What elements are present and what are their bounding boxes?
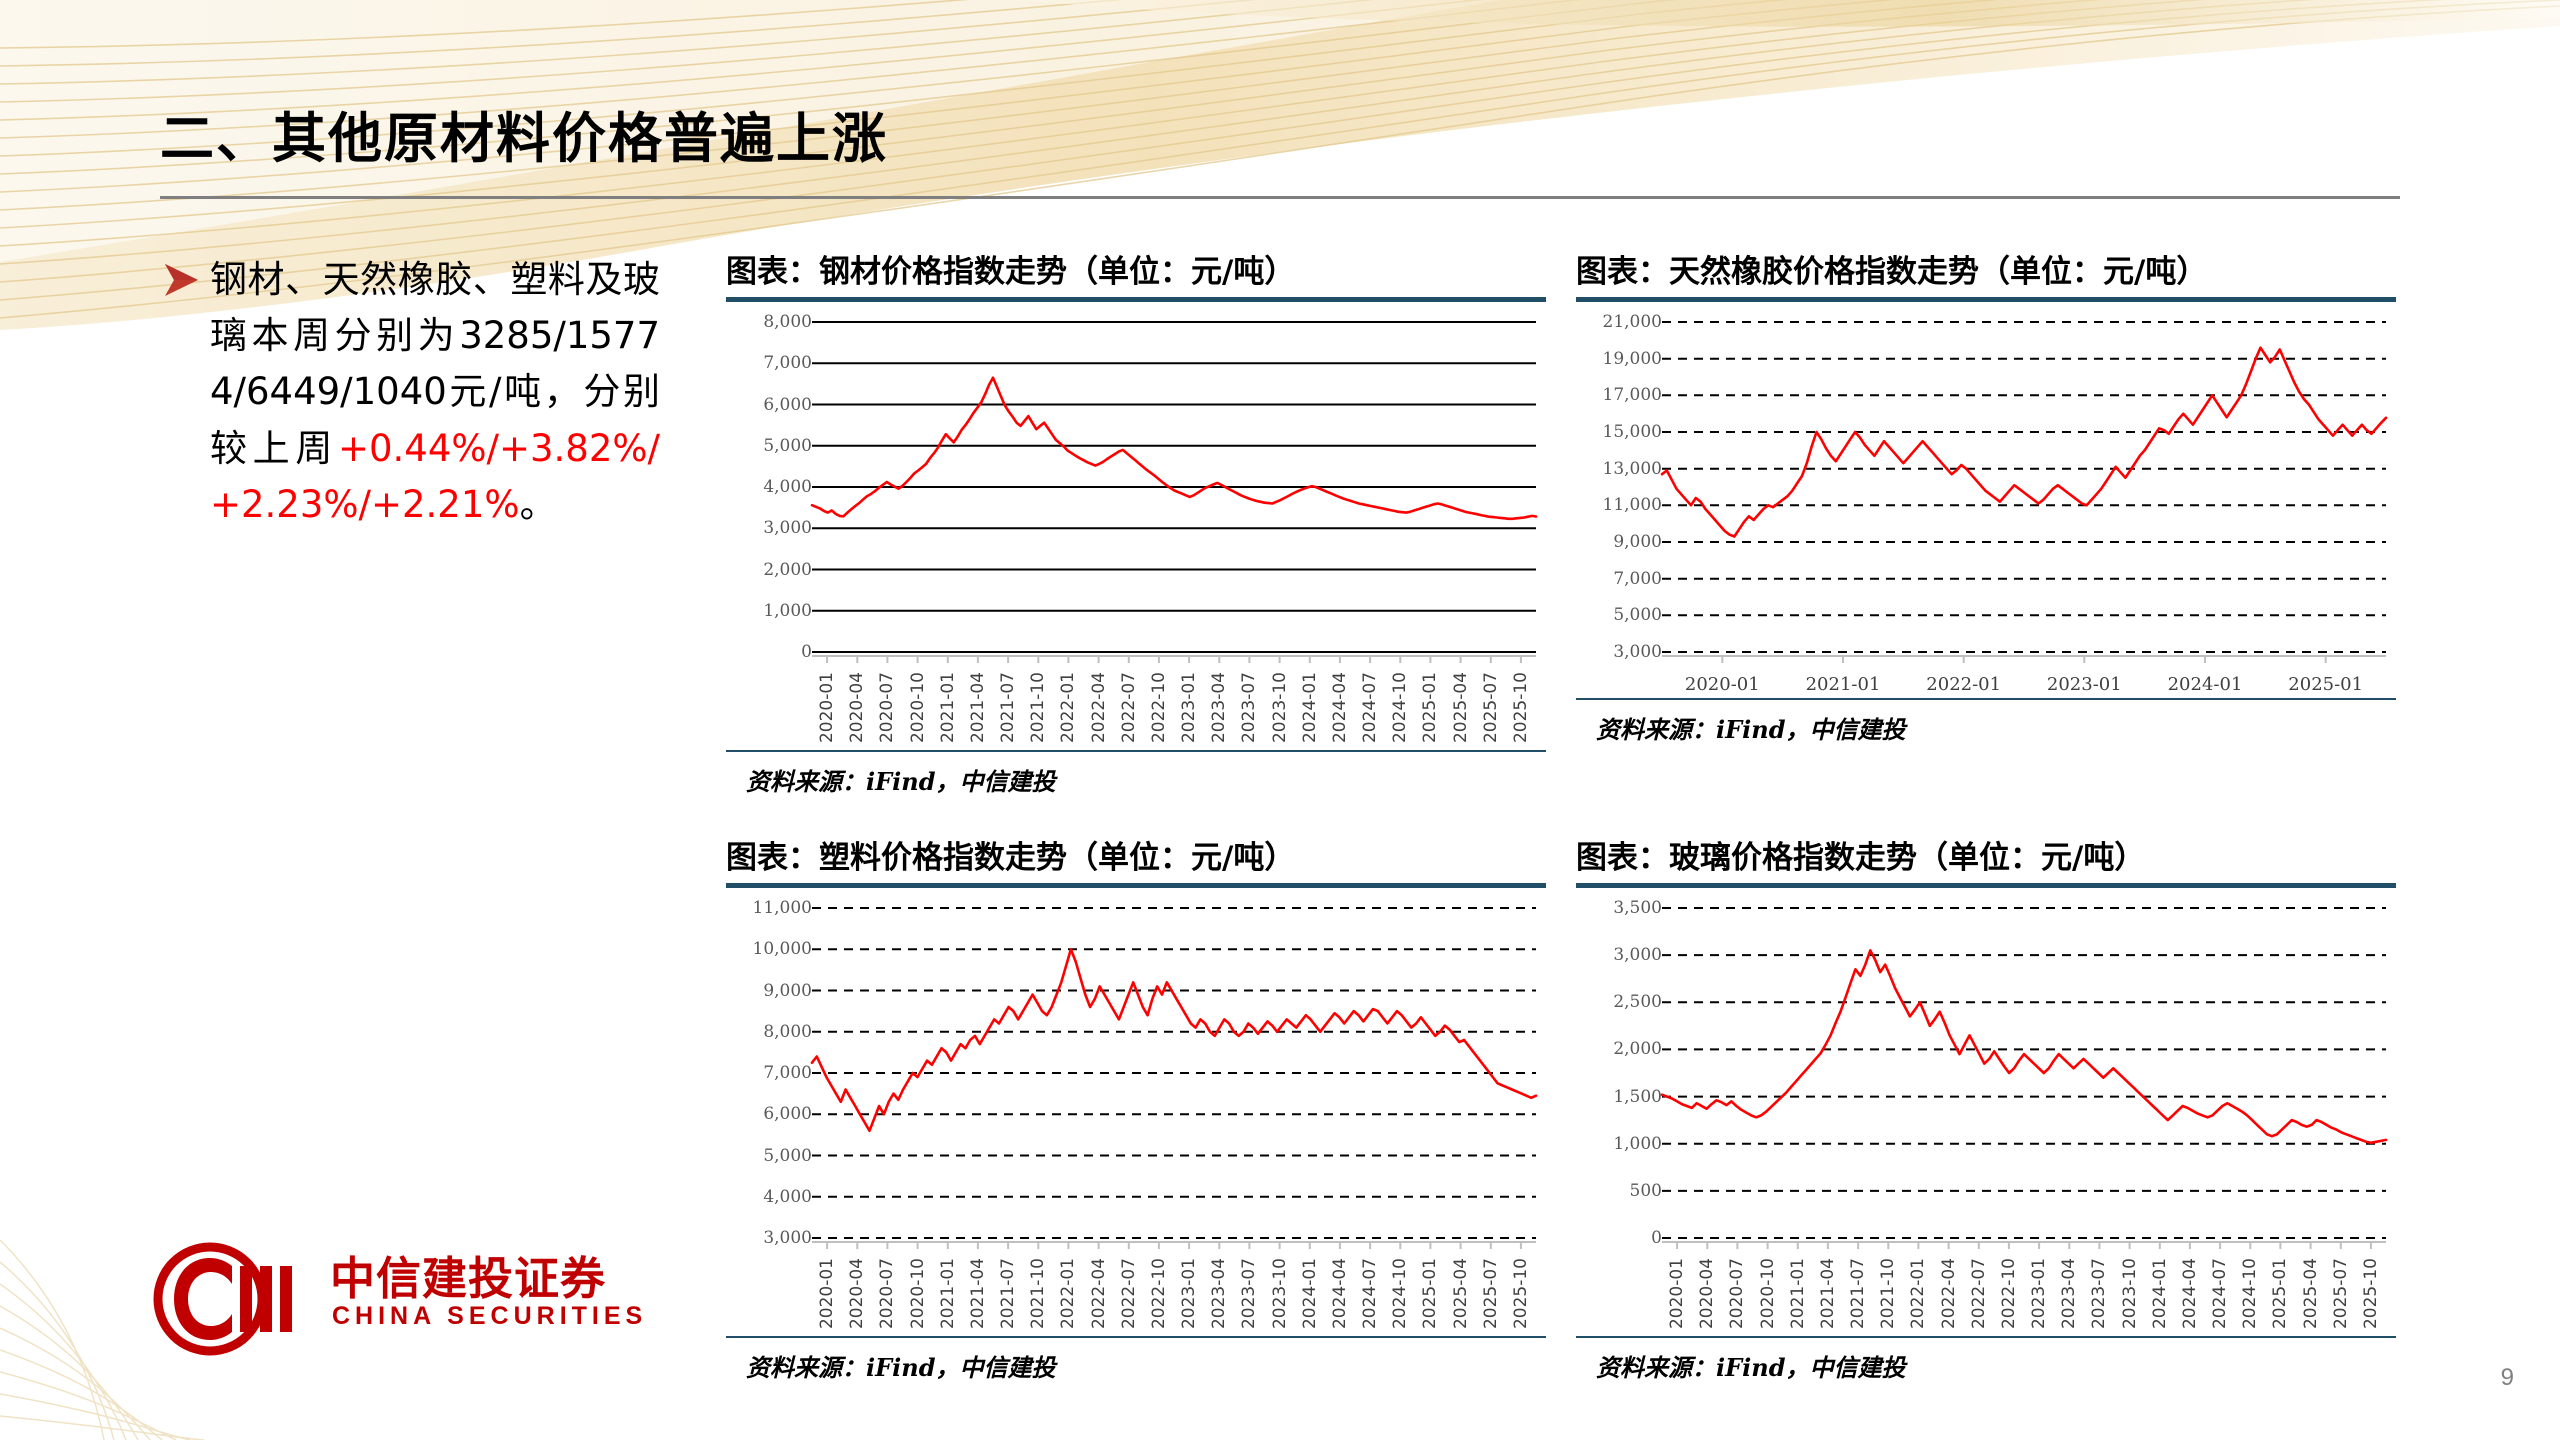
series-line <box>1662 348 2386 537</box>
x-axis-tick: 2020-01 <box>817 1258 837 1329</box>
x-axis-tick: 2024-10 <box>1390 672 1410 743</box>
x-axis-labels: 2020-012020-042020-072020-102021-012021-… <box>1576 1252 2396 1344</box>
y-axis-tick: 5,000 <box>1588 605 1662 625</box>
y-axis-labels: 05001,0001,5002,0002,5003,0003,500 <box>1576 896 1662 1252</box>
gridlines <box>812 322 1536 652</box>
y-axis-tick: 17,000 <box>1588 385 1662 405</box>
series-line <box>1662 950 2386 1142</box>
chart-source-note: 资料来源：iFind，中信建投 <box>726 1338 1546 1383</box>
x-axis-tick: 2023-04 <box>1209 1258 1229 1329</box>
x-axis-tick: 2023-07 <box>1239 672 1259 743</box>
x-axis-tick: 2020-04 <box>847 672 867 743</box>
x-axis-tick: 2023-01 <box>1179 672 1199 743</box>
x-axis-tick: 2025-10 <box>1511 672 1531 743</box>
x-axis-tick: 2022-07 <box>1969 1258 1989 1329</box>
x-axis-tick: 2025-01 <box>2270 1258 2290 1329</box>
logo-text-en: CHINA SECURITIES <box>332 1302 647 1331</box>
x-axis-tick: 2021-01 <box>938 672 958 743</box>
x-axis-tick: 2020-01 <box>1685 674 1760 695</box>
x-axis-tick: 2024-07 <box>1360 1258 1380 1329</box>
x-axis-tick: 2023-01 <box>2029 1258 2049 1329</box>
x-axis-tick: 2025-07 <box>1481 1258 1501 1329</box>
x-axis-labels: 2020-012021-012022-012023-012024-012025-… <box>1576 666 2396 706</box>
x-axis-tick: 2020-07 <box>877 1258 897 1329</box>
x-axis-tick: 2021-04 <box>968 1258 988 1329</box>
y-axis-tick: 2,500 <box>1588 992 1662 1012</box>
summary-text-tail: 。 <box>520 483 557 526</box>
company-logo: 中信建投证券 CHINA SECURITIES <box>140 1240 570 1360</box>
x-axis-tick: 2024-01 <box>2168 674 2243 695</box>
series-line <box>812 949 1536 1131</box>
x-axis-tick: 2021-01 <box>1806 674 1881 695</box>
y-axis-tick: 2,000 <box>1588 1039 1662 1059</box>
slide-root: 二、其他原材料价格普遍上涨 钢材、天然橡胶、塑料及玻璃本周分别为3285/157… <box>0 0 2560 1440</box>
y-axis-tick: 11,000 <box>738 898 812 918</box>
x-axis-labels: 2020-012020-042020-072020-102021-012021-… <box>726 1252 1546 1344</box>
y-axis-tick: 7,000 <box>1588 569 1662 589</box>
y-axis-tick: 1,000 <box>1588 1134 1662 1154</box>
x-axis-tick: 2020-07 <box>877 672 897 743</box>
y-axis-tick: 8,000 <box>738 312 812 332</box>
x-axis-tick: 2022-07 <box>1119 1258 1139 1329</box>
x-axis-tick: 2021-07 <box>998 672 1018 743</box>
chart-title: 图表：玻璃价格指数走势（单位：元/吨） <box>1576 832 2396 883</box>
x-axis-tick: 2022-04 <box>1089 672 1109 743</box>
x-axis-tick: 2022-01 <box>1908 1258 1928 1329</box>
x-axis-tick: 2020-01 <box>1667 1258 1687 1329</box>
x-axis-tick: 2023-10 <box>1270 672 1290 743</box>
y-axis-tick: 9,000 <box>1588 532 1662 552</box>
x-axis-tick: 2020-01 <box>817 672 837 743</box>
x-axis-tick: 2025-10 <box>2361 1258 2381 1329</box>
y-axis-tick: 3,000 <box>738 1228 812 1248</box>
x-axis-tick: 2025-01 <box>2288 674 2363 695</box>
x-axis <box>1662 1242 2386 1249</box>
x-axis-tick: 2021-10 <box>1028 1258 1048 1329</box>
x-axis-tick: 2020-10 <box>908 672 928 743</box>
y-axis-labels: 3,0004,0005,0006,0007,0008,0009,00010,00… <box>726 896 812 1252</box>
x-axis-tick: 2022-01 <box>1058 1258 1078 1329</box>
x-axis-tick: 2024-07 <box>1360 672 1380 743</box>
y-axis-tick: 15,000 <box>1588 422 1662 442</box>
x-axis-tick: 2023-01 <box>1179 1258 1199 1329</box>
arrow-bullet-icon <box>160 258 202 302</box>
x-axis-tick: 2021-01 <box>938 1258 958 1329</box>
x-axis-tick: 2022-07 <box>1119 672 1139 743</box>
x-axis-tick: 2025-01 <box>1420 672 1440 743</box>
y-axis-tick: 19,000 <box>1588 349 1662 369</box>
y-axis-tick: 6,000 <box>738 395 812 415</box>
chart-source-note: 资料来源：iFind，中信建投 <box>1576 1338 2396 1383</box>
x-axis-tick: 2021-04 <box>1818 1258 1838 1329</box>
x-axis-tick: 2020-10 <box>908 1258 928 1329</box>
chart-source-note: 资料来源：iFind，中信建投 <box>1576 700 2396 745</box>
chart-title: 图表：天然橡胶价格指数走势（单位：元/吨） <box>1576 246 2396 297</box>
chart-card-plastic: 图表：塑料价格指数走势（单位：元/吨）3,0004,0005,0006,0007… <box>726 832 1546 1392</box>
x-axis-tick: 2022-10 <box>1999 1258 2019 1329</box>
y-axis-tick: 3,000 <box>1588 642 1662 662</box>
y-axis-labels: 3,0005,0007,0009,00011,00013,00015,00017… <box>1576 310 1662 666</box>
chart-plot-area: 05001,0001,5002,0002,5003,0003,5002020-0… <box>1576 888 2396 1336</box>
series-line <box>812 378 1536 519</box>
x-axis-tick: 2022-04 <box>1939 1258 1959 1329</box>
x-axis-tick: 2024-01 <box>2150 1258 2170 1329</box>
chart-svg <box>1576 896 2396 1252</box>
y-axis-tick: 3,000 <box>1588 945 1662 965</box>
x-axis-tick: 2023-01 <box>2047 674 2122 695</box>
logo-text-cn: 中信建投证券 <box>330 1242 606 1307</box>
x-axis-tick: 2020-10 <box>1758 1258 1778 1329</box>
x-axis-tick: 2021-10 <box>1878 1258 1898 1329</box>
x-axis-tick: 2021-07 <box>1848 1258 1868 1329</box>
x-axis <box>1662 656 2386 663</box>
page-title: 二、其他原材料价格普遍上涨 <box>160 108 1220 170</box>
x-axis-tick: 2021-01 <box>1788 1258 1808 1329</box>
chart-svg <box>726 310 1546 666</box>
x-axis-tick: 2025-01 <box>1420 1258 1440 1329</box>
x-axis-tick: 2024-01 <box>1300 672 1320 743</box>
x-axis-tick: 2024-01 <box>1300 1258 1320 1329</box>
x-axis-tick: 2024-10 <box>1390 1258 1410 1329</box>
x-axis-tick: 2020-04 <box>847 1258 867 1329</box>
y-axis-tick: 11,000 <box>1588 495 1662 515</box>
y-axis-tick: 21,000 <box>1588 312 1662 332</box>
y-axis-tick: 9,000 <box>738 981 812 1001</box>
x-axis-tick: 2025-07 <box>1481 672 1501 743</box>
summary-panel: 钢材、天然橡胶、塑料及玻璃本周分别为3285/15774/6449/1040元/… <box>160 252 660 533</box>
summary-text: 钢材、天然橡胶、塑料及玻璃本周分别为3285/15774/6449/1040元/… <box>210 252 660 533</box>
x-axis-tick: 2020-07 <box>1727 1258 1747 1329</box>
chart-plot-area: 01,0002,0003,0004,0005,0006,0007,0008,00… <box>726 302 1546 750</box>
x-axis-tick: 2024-10 <box>2240 1258 2260 1329</box>
y-axis-tick: 3,500 <box>1588 898 1662 918</box>
x-axis-tick: 2023-10 <box>1270 1258 1290 1329</box>
y-axis-tick: 0 <box>738 642 812 662</box>
y-axis-tick: 6,000 <box>738 1104 812 1124</box>
x-axis-tick: 2023-10 <box>2120 1258 2140 1329</box>
x-axis-tick: 2023-04 <box>2059 1258 2079 1329</box>
chart-plot-area: 3,0005,0007,0009,00011,00013,00015,00017… <box>1576 302 2396 698</box>
y-axis-tick: 5,000 <box>738 1146 812 1166</box>
y-axis-tick: 0 <box>1588 1228 1662 1248</box>
chart-svg <box>726 896 1546 1252</box>
y-axis-tick: 4,000 <box>738 477 812 497</box>
gridlines <box>1662 908 2386 1238</box>
x-axis-tick: 2024-04 <box>1330 1258 1350 1329</box>
page-number: 9 <box>2501 1364 2514 1392</box>
chart-card-rubber: 图表：天然橡胶价格指数走势（单位：元/吨）3,0005,0007,0009,00… <box>1576 246 2396 806</box>
y-axis-tick: 7,000 <box>738 1063 812 1083</box>
y-axis-tick: 13,000 <box>1588 459 1662 479</box>
x-axis-tick: 2021-07 <box>998 1258 1018 1329</box>
y-axis-tick: 1,000 <box>738 601 812 621</box>
x-axis-tick: 2022-04 <box>1089 1258 1109 1329</box>
y-axis-tick: 7,000 <box>738 353 812 373</box>
x-axis <box>812 656 1536 663</box>
chart-svg <box>1576 310 2396 666</box>
x-axis <box>812 1242 1536 1249</box>
x-axis-tick: 2024-07 <box>2210 1258 2230 1329</box>
x-axis-tick: 2025-10 <box>1511 1258 1531 1329</box>
gridlines <box>1662 322 2386 652</box>
chart-card-glass: 图表：玻璃价格指数走势（单位：元/吨）05001,0001,5002,0002,… <box>1576 832 2396 1392</box>
y-axis-tick: 4,000 <box>738 1187 812 1207</box>
x-axis-tick: 2021-04 <box>968 672 988 743</box>
y-axis-tick: 1,500 <box>1588 1087 1662 1107</box>
x-axis-tick: 2023-07 <box>1239 1258 1259 1329</box>
x-axis-tick: 2025-04 <box>2301 1258 2321 1329</box>
y-axis-tick: 10,000 <box>738 939 812 959</box>
x-axis-tick: 2023-04 <box>1209 672 1229 743</box>
chart-title: 图表：钢材价格指数走势（单位：元/吨） <box>726 246 1546 297</box>
chart-plot-area: 3,0004,0005,0006,0007,0008,0009,00010,00… <box>726 888 1546 1336</box>
x-axis-tick: 2024-04 <box>2180 1258 2200 1329</box>
y-axis-tick: 3,000 <box>738 518 812 538</box>
x-axis-tick: 2020-04 <box>1697 1258 1717 1329</box>
page-title-wrap: 二、其他原材料价格普遍上涨 <box>160 108 1220 170</box>
chart-source-note: 资料来源：iFind，中信建投 <box>726 752 1546 797</box>
x-axis-tick: 2025-07 <box>2331 1258 2351 1329</box>
y-axis-tick: 2,000 <box>738 560 812 580</box>
y-axis-labels: 01,0002,0003,0004,0005,0006,0007,0008,00… <box>726 310 812 666</box>
y-axis-tick: 500 <box>1588 1181 1662 1201</box>
x-axis-tick: 2022-01 <box>1058 672 1078 743</box>
chart-title: 图表：塑料价格指数走势（单位：元/吨） <box>726 832 1546 883</box>
x-axis-tick: 2022-10 <box>1149 672 1169 743</box>
title-divider <box>160 196 2400 199</box>
x-axis-tick: 2022-10 <box>1149 1258 1169 1329</box>
y-axis-tick: 5,000 <box>738 436 812 456</box>
x-axis-labels: 2020-012020-042020-072020-102021-012021-… <box>726 666 1546 758</box>
chart-card-steel: 图表：钢材价格指数走势（单位：元/吨）01,0002,0003,0004,000… <box>726 246 1546 806</box>
x-axis-tick: 2022-01 <box>1926 674 2001 695</box>
x-axis-tick: 2023-07 <box>2089 1258 2109 1329</box>
x-axis-tick: 2021-10 <box>1028 672 1048 743</box>
logo-mark-icon <box>140 1240 310 1358</box>
x-axis-tick: 2025-04 <box>1451 1258 1471 1329</box>
x-axis-tick: 2025-04 <box>1451 672 1471 743</box>
x-axis-tick: 2024-04 <box>1330 672 1350 743</box>
y-axis-tick: 8,000 <box>738 1022 812 1042</box>
